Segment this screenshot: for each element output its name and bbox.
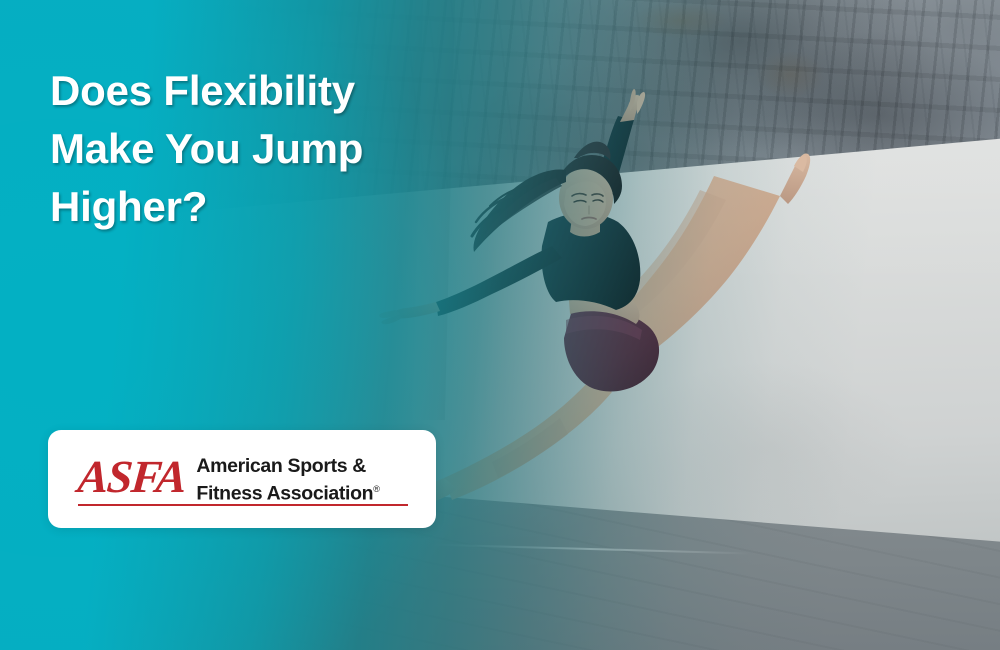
logo-inner: ASFA American Sports & Fitness Associati… xyxy=(78,453,380,506)
logo-underline-rule xyxy=(78,504,408,506)
logo-mark-wrap: ASFA xyxy=(78,453,185,501)
logo-organization-name: American Sports & Fitness Association® xyxy=(196,455,379,506)
page-title: Does Flexibility Make You Jump Higher? xyxy=(50,62,470,236)
registered-trademark-icon: ® xyxy=(373,484,379,494)
asfa-logo-card[interactable]: ASFA American Sports & Fitness Associati… xyxy=(48,430,436,528)
asfa-wordmark: ASFA xyxy=(76,453,188,501)
logo-name-line-2: Fitness Association xyxy=(196,482,373,504)
logo-name-line-1: American Sports & xyxy=(196,455,379,478)
promo-banner: Does Flexibility Make You Jump Higher? A… xyxy=(0,0,1000,650)
logo-name-line-2-wrap: Fitness Association® xyxy=(196,478,379,506)
